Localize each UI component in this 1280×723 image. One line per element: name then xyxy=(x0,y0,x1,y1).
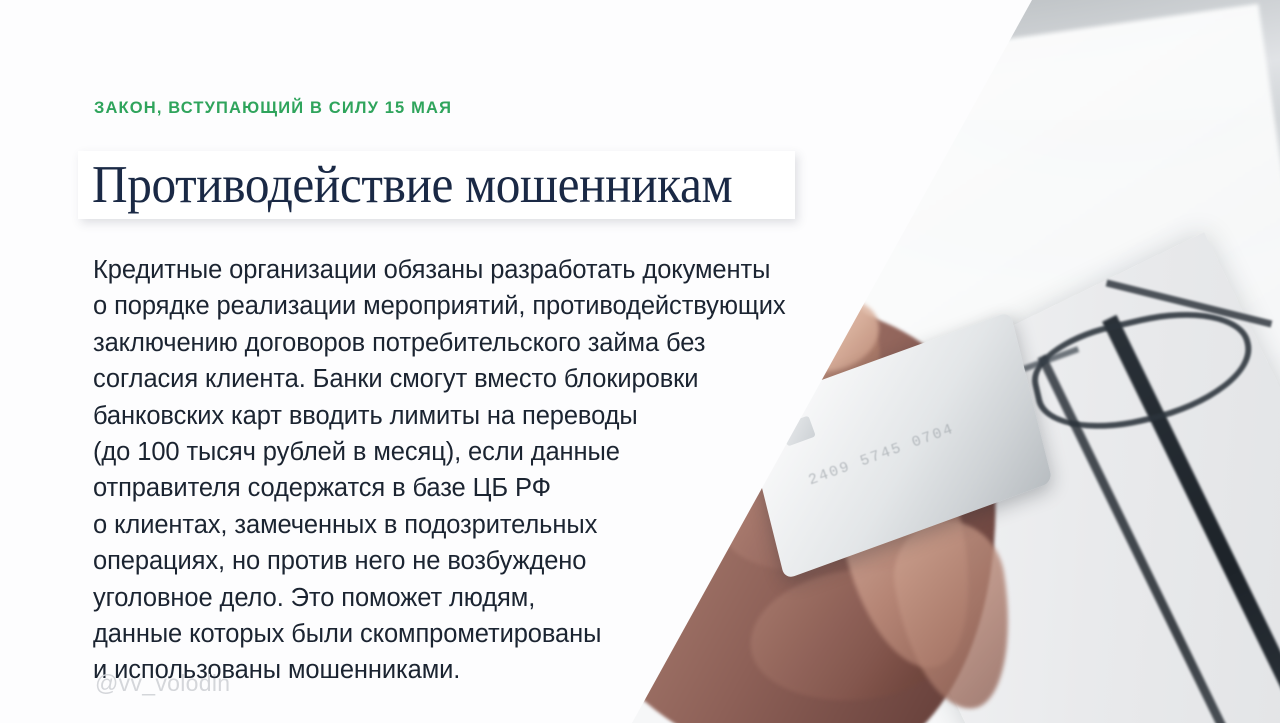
body-line: согласия клиента. Банки смогут вместо бл… xyxy=(93,361,893,397)
body-line: о клиентах, замеченных в подозрительных xyxy=(93,507,893,543)
body-line: уголовное дело. Это поможет людям, xyxy=(93,580,893,616)
body-line: банковских карт вводить лимиты на перево… xyxy=(93,398,893,434)
body-line: о порядке реализации мероприятий, против… xyxy=(93,288,893,324)
page-title: Противодействие мошенникам xyxy=(92,159,732,212)
body-line: Кредитные организации обязаны разработат… xyxy=(93,252,893,288)
body-line: данные которых были скомпрометированы xyxy=(93,616,893,652)
body-line: (до 100 тысяч рублей в месяц), если данн… xyxy=(93,434,893,470)
title-plate: Противодействие мошенникам xyxy=(78,151,795,219)
slide-content: ЗАКОН, ВСТУПАЮЩИЙ В СИЛУ 15 МАЯ Противод… xyxy=(0,0,1280,723)
body-line: заключению договоров потребительского за… xyxy=(93,325,893,361)
body-line: отправителя содержатся в базе ЦБ РФ xyxy=(93,470,893,506)
body-line: операциях, но против него не возбуждено xyxy=(93,543,893,579)
slide-canvas: 2409 5745 0704 ЗАКОН, ВСТУПАЮЩИЙ В СИЛУ … xyxy=(0,0,1280,723)
author-handle: @vv_volodin xyxy=(95,670,230,697)
eyebrow-law-effective-date: ЗАКОН, ВСТУПАЮЩИЙ В СИЛУ 15 МАЯ xyxy=(94,99,452,118)
body-paragraph: Кредитные организации обязаны разработат… xyxy=(93,252,893,689)
